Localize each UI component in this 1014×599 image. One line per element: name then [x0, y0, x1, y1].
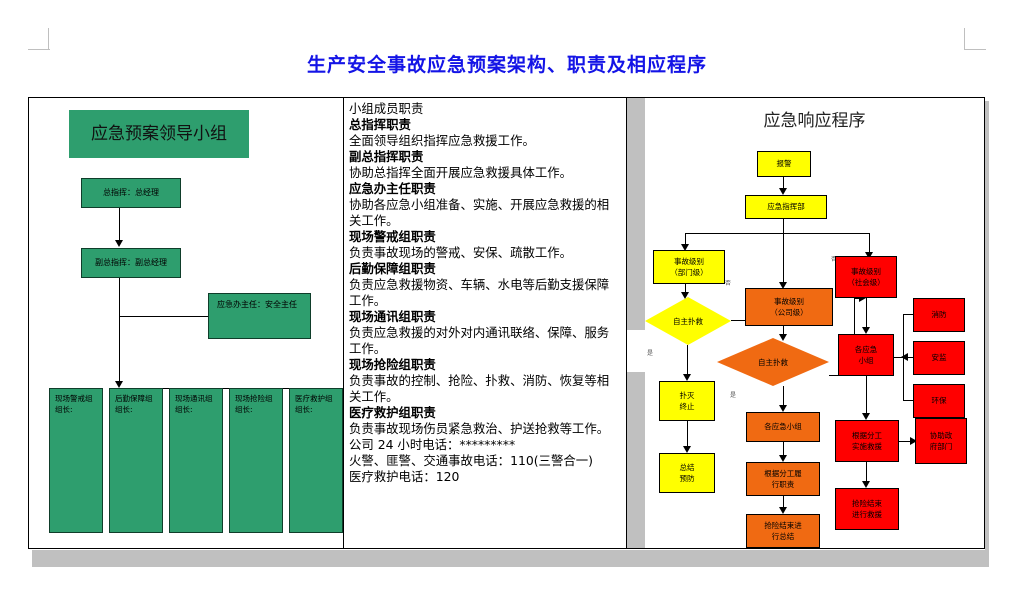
node-commander: 总指挥：总经理: [81, 178, 181, 208]
edge-label-yes-2: 是: [730, 390, 736, 399]
team-box-4: 现场抢险组 组长:: [229, 388, 283, 533]
connector-vice-trunk: [119, 278, 120, 386]
team-leader-5: 组长:: [295, 404, 339, 415]
duty-title-6: 现场抢险组职责: [349, 357, 621, 373]
flow-node-alarm: 报警: [757, 151, 811, 177]
document-page: 生产安全事故应急预案架构、职责及相应程序 应急预案领导小组 总指挥：总经理 副总…: [0, 0, 1014, 599]
flow-node-level-company-label: 事故级别 （公司级）: [770, 296, 808, 319]
flow-node-duty-orange-label: 根据分工履 行职责: [764, 468, 802, 491]
margin-corner-top-left: [28, 28, 50, 50]
arrow-duty-end-o: [779, 507, 787, 514]
org-chart-panel: 应急预案领导小组 总指挥：总经理 副总指挥：副总经理 应急办主任：安全主任 现场: [29, 98, 344, 548]
node-vice-commander: 副总指挥：副总经理: [81, 248, 181, 278]
duty-body-2: 协助各应急小组准备、实施、开展应急救援的相关工作。: [349, 197, 621, 229]
flow-node-end-orange-label: 抢险结束进 行总结: [764, 520, 802, 543]
team-name-1: 现场警戒组: [55, 393, 99, 404]
edge-decision-extinguish: [687, 345, 688, 377]
duties-text-panel: 小组成员职责 总指挥职责 全面领导组织指挥应急救援工作。 副总指挥职责 协助总指…: [344, 98, 627, 548]
team-box-1: 现场警戒组 组长:: [49, 388, 103, 533]
duty-body-0: 全面领导组织指挥应急救援工作。: [349, 133, 621, 149]
arrow-social-teams-r: [862, 327, 870, 334]
arrow-decision-teams-o: [779, 405, 787, 412]
flow-node-extinguish-label: 扑灭 终止: [680, 390, 695, 413]
flow-node-rescue-red-label: 根据分工 实施救援: [852, 430, 882, 453]
team-name-3: 现场通讯组: [175, 393, 219, 404]
team-leader-3: 组长:: [175, 404, 219, 415]
org-chart-heading: 应急预案领导小组: [69, 110, 249, 158]
duty-body-5: 负责应急救援的对外对内通讯联络、保障、服务工作。: [349, 325, 621, 357]
duties-text-block: 小组成员职责 总指挥职责 全面领导组织指挥应急救援工作。 副总指挥职责 协助总指…: [349, 101, 621, 485]
arrow-extinguish-summary: [683, 446, 691, 453]
flow-decision-company: 自主扑救: [717, 338, 829, 386]
duty-title-0: 总指挥职责: [349, 117, 621, 133]
connector-commander-vice: [119, 208, 120, 242]
document-title: 生产安全事故应急预案架构、职责及相应程序: [0, 50, 1014, 77]
flow-node-fire: 消防: [913, 298, 965, 332]
edge-bus-company: [783, 233, 784, 285]
duty-body-7: 负责事故现场伤员紧急救治、护送抢救等工作。: [349, 421, 621, 437]
flow-node-end-red-label: 抢险结束 进行救援: [852, 498, 882, 521]
edge-hq-bus: [685, 233, 870, 234]
flow-node-teams-red-label: 各应急 小组: [855, 344, 878, 367]
page-shadow-right: [985, 101, 989, 567]
arrow-rescue-end-r: [862, 481, 870, 488]
arrow-down-vice: [115, 240, 123, 247]
arrow-decision-extinguish: [683, 374, 691, 381]
edge-label-no-1: 否: [725, 278, 731, 287]
duty-title-2: 应急办主任职责: [349, 181, 621, 197]
duty-title-3: 现场警戒组职责: [349, 229, 621, 245]
phone-line-0: 公司 24 小时电话：*********: [349, 437, 621, 453]
phone-line-1: 火警、匪警、交通事故电话：110(三警合一): [349, 453, 621, 469]
flow-node-teams-orange: 各应急小组: [746, 412, 820, 442]
edge-extinguish-summary: [687, 421, 688, 449]
flowchart-heading: 应急响应程序: [645, 106, 984, 131]
flow-decision-department-label: 自主扑救: [673, 316, 703, 327]
edge-hq-drop: [783, 219, 784, 234]
flow-node-level-department-label: 事故级别 （部门级）: [670, 256, 708, 279]
duty-body-1: 协助总指挥全面开展应急救援具体工作。: [349, 165, 621, 181]
flow-node-safety-bureau: 安监: [913, 341, 965, 375]
edge-env-left: [903, 400, 913, 401]
flow-node-duty-orange: 根据分工履 行职责: [746, 462, 820, 496]
team-box-2: 后勤保障组 组长:: [109, 388, 163, 533]
flow-node-level-company: 事故级别 （公司级）: [745, 288, 833, 326]
flow-node-end-orange: 抢险结束进 行总结: [746, 514, 820, 548]
duties-heading: 小组成员职责: [349, 101, 621, 117]
arrow-teams-duty-o: [779, 455, 787, 462]
team-name-5: 医疗救护组: [295, 393, 339, 404]
flow-node-level-social: 事故级别 （社会级）: [835, 256, 897, 298]
flow-node-level-department: 事故级别 （部门级）: [653, 250, 725, 284]
arrow-teams-rescue-r: [862, 413, 870, 420]
team-leader-4: 组长:: [235, 404, 279, 415]
edge-teams-rescue-r: [866, 376, 867, 416]
scrollbar-thumb[interactable]: [627, 330, 645, 372]
duty-body-6: 负责事故的控制、抢险、扑救、消防、恢复等相关工作。: [349, 373, 621, 405]
duty-title-7: 医疗救护组职责: [349, 405, 621, 421]
flow-decision-company-label: 自主扑救: [758, 357, 788, 368]
duty-title-5: 现场通讯组职责: [349, 309, 621, 325]
flow-node-government-label: 协助政 府部门: [930, 430, 953, 453]
duty-body-3: 负责事故现场的警戒、安保、疏散工作。: [349, 245, 621, 261]
flow-node-summary: 总结 预防: [659, 453, 715, 493]
flow-node-government: 协助政 府部门: [915, 418, 967, 464]
flow-node-level-social-label: 事故级别 （社会级）: [847, 266, 885, 289]
duty-title-1: 副总指挥职责: [349, 149, 621, 165]
margin-corner-top-right: [963, 28, 985, 50]
duty-title-4: 后勤保障组职责: [349, 261, 621, 277]
team-name-2: 后勤保障组: [115, 393, 159, 404]
flow-node-hq: 应急指挥部: [745, 195, 827, 219]
vertical-scrollbar[interactable]: [627, 98, 645, 548]
phone-line-2: 医疗救护电话：120: [349, 469, 621, 485]
arrow-alarm-hq: [779, 188, 787, 195]
arrow-agencies-to-teams: [901, 353, 908, 361]
team-box-3: 现场通讯组 组长:: [169, 388, 223, 533]
content-table-frame: 应急预案领导小组 总指挥：总经理 副总指挥：副总经理 应急办主任：安全主任 现场: [28, 97, 985, 549]
connector-office-branch: [119, 316, 208, 317]
flow-node-rescue-red: 根据分工 实施救援: [835, 420, 899, 462]
team-leader-2: 组长:: [115, 404, 159, 415]
response-flowchart-panel: 应急响应程序 报警 应急指挥部 事故级别 （部门级）: [645, 98, 984, 548]
edge-label-yes-1: 是: [647, 348, 653, 357]
edge-social-teams-r: [866, 298, 867, 330]
team-leader-1: 组长:: [55, 404, 99, 415]
duty-body-4: 负责应急救援物资、车辆、水电等后勤支援保障工作。: [349, 277, 621, 309]
flow-node-summary-label: 总结 预防: [680, 462, 695, 485]
team-box-5: 医疗救护组 组长:: [289, 388, 343, 533]
flow-node-environment: 环保: [913, 384, 965, 418]
flow-node-teams-red: 各应急 小组: [838, 334, 894, 376]
edge-fire-left: [903, 314, 913, 315]
flow-node-extinguish: 扑灭 终止: [659, 381, 715, 421]
node-emergency-office: 应急办主任：安全主任: [208, 293, 311, 339]
page-shadow-bottom: [32, 550, 989, 567]
flow-node-end-red: 抢险结束 进行救援: [835, 488, 899, 530]
team-name-4: 现场抢险组: [235, 393, 279, 404]
arrow-down-teams: [115, 381, 123, 388]
